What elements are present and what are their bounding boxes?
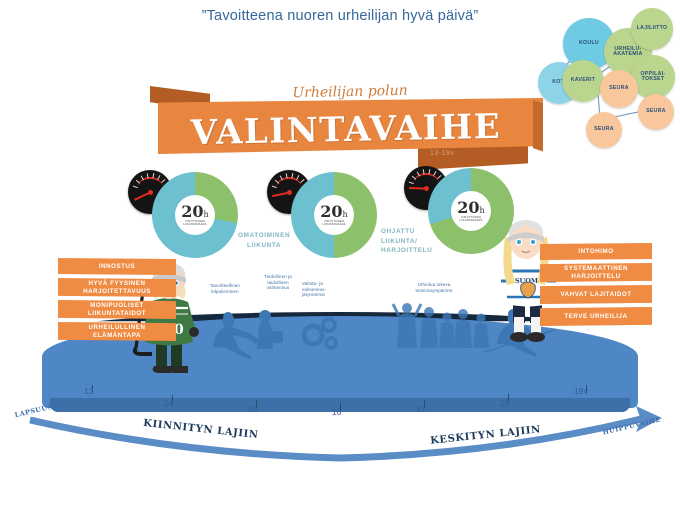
donut-sublabel: VIIKOTTAINEN LIIKUNTAMÄÄRÄ (459, 217, 482, 223)
donut-center-1: 20h VIIKOTTAINEN LIIKUNTAMÄÄRÄ (175, 195, 215, 235)
caption-4: Urheilua tukeva toimintaympäristö (401, 282, 467, 293)
bubble-label: OPPILAI- TOKSET (641, 72, 666, 83)
caption-3: Valinta- ja valmennus- järjestelmä (302, 281, 350, 298)
bubble-label: URHEILU- AKATEMIA (613, 47, 642, 58)
timeline-arrows (0, 398, 680, 468)
tag-left-3: MONIPUOLISET LIIKUNTATAIDOT (58, 300, 176, 319)
banner-headline: VALINTAVAIHE (150, 106, 543, 154)
tag-right-3: VAHVAT LAJITAIDOT (540, 285, 652, 304)
bubble-seura-1: SEURA (600, 70, 638, 108)
donut-value: 20h (181, 204, 208, 220)
bubble-lajiliitto: LAJILIITTO (631, 8, 673, 50)
tag-left-4: URHEILULLINEN ELÄMÄNTAPA (58, 322, 176, 341)
infographic-canvas: ”Tavoitteena nuoren urheilijan hyvä päiv… (0, 0, 680, 510)
donut-value: 20h (320, 204, 347, 220)
caption-2: Tiedollinen ja taidollinen valmennus (251, 274, 305, 291)
banner-age-range: 13-19v (430, 150, 454, 157)
bubble-label: SEURA (609, 86, 629, 91)
gauge-arc (137, 177, 163, 188)
tag-right-1: INTOHIMO (540, 243, 652, 260)
donut-center-2: 20h VIIKOTTAINEN LIIKUNTAMÄÄRÄ (314, 195, 354, 235)
bubble-kaverit: KAVERIT (562, 60, 604, 102)
bubble-label: LAJILIITTO (637, 26, 668, 31)
stakeholder-bubble-cluster: KOTI KOULU KAVERIT URHEILU- AKATEMIA LAJ… (528, 0, 680, 152)
bubble-label: SEURA (594, 127, 614, 132)
bubble-label: KOULU (579, 41, 599, 46)
title-banner: 13-19v Urheilijan polun VALINTAVAIHE (150, 84, 550, 174)
gauge-hub (424, 186, 429, 191)
bubble-label: KAVERIT (571, 78, 595, 83)
tag-left-2: HYVÄ FYYSINEN HARJOITETTAVUUS (58, 278, 176, 297)
tag-right-4: TERVE URHEILIJA (540, 307, 652, 326)
bubble-seura-3: SEURA (586, 112, 622, 148)
bubble-seura-2: SEURA (638, 94, 674, 130)
donut-value: 20h (457, 200, 484, 216)
gauge-hub (287, 190, 292, 195)
gauge-arc (276, 177, 302, 188)
gauge-arc (413, 173, 439, 184)
donut-label-guided: OHJATTU LIIKUNTA/ HARJOITTELU (381, 227, 432, 256)
donut-label-self: OMATOIMINEN LIIKUNTA (238, 231, 290, 250)
tag-left-1: INNOSTUS (58, 258, 176, 275)
bubble-label: SEURA (646, 109, 666, 114)
timeline-number-13: 13 (84, 386, 93, 396)
donut-sublabel: VIIKOTTAINEN LIIKUNTAMÄÄRÄ (322, 221, 345, 227)
gauge-hub (148, 190, 153, 195)
donut-sublabel: VIIKOTTAINEN LIIKUNTAMÄÄRÄ (183, 221, 206, 227)
timeline-number-19v: 19v (574, 386, 588, 396)
tag-right-2: SYSTEMAATTINEN HARJOITTELU (540, 263, 652, 282)
